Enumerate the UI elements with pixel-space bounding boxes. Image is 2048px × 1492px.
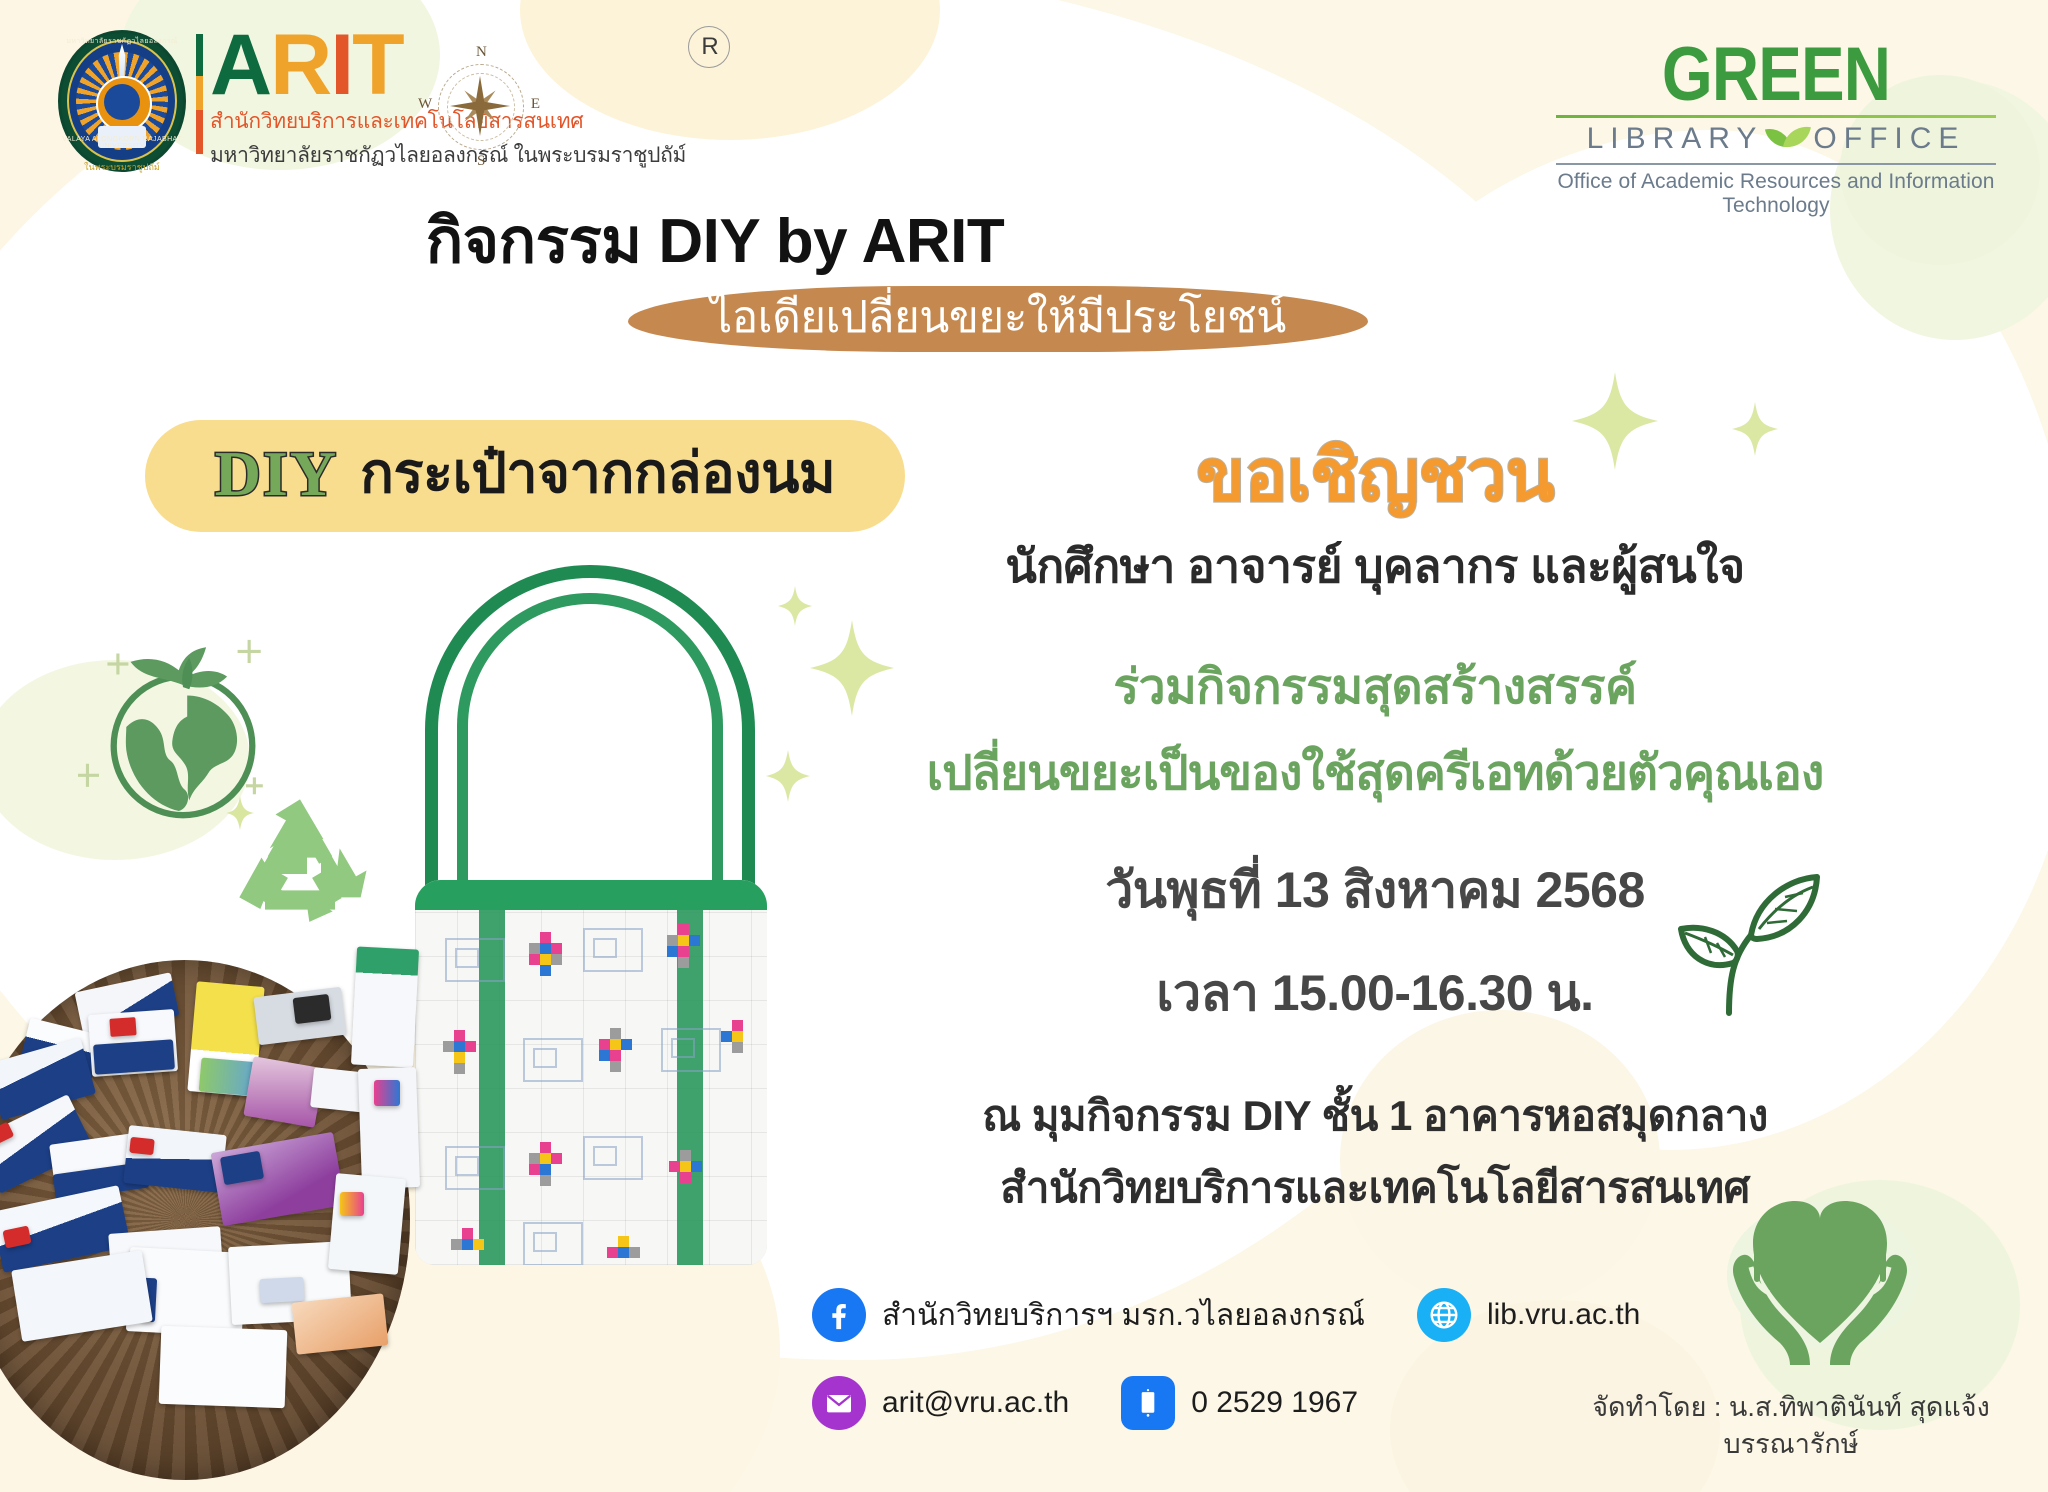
- poster-subtitle-pill: ไอเดียเปลี่ยนขยะให้มีประโยชน์: [628, 286, 1368, 352]
- arit-color-bars-icon: [196, 34, 203, 154]
- contact-block: สำนักวิทยบริการฯ มรก.วไลยอลงกรณ์ lib.vru…: [812, 1288, 1532, 1464]
- leaf-icon: [1765, 124, 1811, 154]
- diy-badge-word: DIY: [215, 437, 338, 511]
- contact-website-label: lib.vru.ac.th: [1487, 1298, 1640, 1332]
- green-library-office-logo: GREEN LIBRARY OFFICE Office of Academic …: [1556, 42, 1996, 218]
- arit-logo: มหาวิทยาลัยราชกัฏวไลยอลงกรณ์ VALAYA ALON…: [58, 30, 686, 172]
- compass-west-label: W: [418, 96, 432, 113]
- recycle-icon: [230, 790, 370, 930]
- hands-holding-heart-icon: [1705, 1155, 1935, 1370]
- contact-email[interactable]: arit@vru.ac.th: [812, 1376, 1069, 1430]
- arit-letter-i: I: [330, 17, 352, 113]
- seal-text-sub: ในพระบรมราชูปถัม์: [58, 160, 186, 174]
- compass-east-label: E: [531, 96, 540, 113]
- arit-letter-a: A: [210, 17, 270, 113]
- plant-sprout-icon: [1655, 845, 1845, 1035]
- phone-icon: [1121, 1376, 1175, 1430]
- credit-block: จัดทำโดย : น.ส.ทิพาตินันท์ สุดแจ้ง บรรณา…: [1576, 1389, 2006, 1462]
- contact-email-label: arit@vru.ac.th: [882, 1386, 1069, 1420]
- invitation-green-line-2: เปลี่ยนขยะเป็นของใช้สุดครีเอทด้วยตัวคุณเ…: [830, 735, 1920, 811]
- globe-icon: [1417, 1288, 1471, 1342]
- arit-letter-t: T: [352, 17, 403, 113]
- office-label: OFFICE: [1813, 122, 1965, 156]
- compass-south-label: S: [477, 153, 485, 170]
- invitation-heading: ขอเชิญชวน: [830, 440, 1920, 512]
- woven-bag-photo: [395, 565, 785, 1265]
- milk-carton-basket-photo: [0, 930, 430, 1492]
- green-logo-divider-2: [1556, 163, 1996, 165]
- poster-canvas: มหาวิทยาลัยราชกัฏวไลยอลงกรณ์ VALAYA ALON…: [0, 0, 2048, 1492]
- contact-facebook-label: สำนักวิทยบริการฯ มรก.วไลยอลงกรณ์: [882, 1292, 1365, 1339]
- contact-website[interactable]: lib.vru.ac.th: [1417, 1288, 1640, 1342]
- bag-handle-inner: [457, 593, 723, 895]
- arit-letter-r: R: [270, 17, 330, 113]
- credit-line-2: บรรณารักษ์: [1576, 1426, 2006, 1462]
- contact-facebook[interactable]: สำนักวิทยบริการฯ มรก.วไลยอลงกรณ์: [812, 1288, 1365, 1342]
- mail-icon: [812, 1376, 866, 1430]
- contact-row-1: สำนักวิทยบริการฯ มรก.วไลยอลงกรณ์ lib.vru…: [812, 1288, 1532, 1342]
- bag-rim: [415, 880, 767, 910]
- compass-rose-icon: N S W E: [420, 46, 540, 166]
- event-venue-line-1: ณ มุมกิจกรรม DIY ชั้น 1 อาคารหอสมุดกลาง: [830, 1083, 1920, 1149]
- contact-phone[interactable]: 0 2529 1967: [1121, 1376, 1358, 1430]
- contact-phone-label: 0 2529 1967: [1191, 1386, 1358, 1420]
- bag-body: [415, 880, 767, 1265]
- contact-row-2: arit@vru.ac.th 0 2529 1967: [812, 1376, 1532, 1430]
- poster-main-title: กิจกรรม DIY by ARIT: [0, 192, 1430, 290]
- facebook-icon: [812, 1288, 866, 1342]
- seal-text-top: มหาวิทยาลัยราชกัฏวไลยอลงกรณ์: [58, 36, 186, 47]
- compass-north-label: N: [476, 44, 487, 61]
- green-logo-subtitle: Office of Academic Resources and Informa…: [1556, 170, 1996, 218]
- diy-topic-badge: DIY กระเป๋าจากกล่องนม: [145, 420, 905, 532]
- bag-weave-pattern: [415, 910, 767, 1265]
- invitation-block: ขอเชิญชวน นักศึกษา อาจารย์ บุคลากร และผู…: [830, 440, 1920, 1221]
- invitation-green-line-1: ร่วมกิจกรรมสุดสร้างสรรค์: [830, 649, 1920, 725]
- seal-text-bottom: VALAYA ALONGKORN RAJABHAT UNIVERSITY: [58, 136, 186, 150]
- green-wordmark: GREEN: [1587, 42, 1965, 109]
- library-label: LIBRARY: [1587, 122, 1764, 156]
- university-seal-icon: มหาวิทยาลัยราชกัฏวไลยอลงกรณ์ VALAYA ALON…: [58, 30, 186, 172]
- invitation-audience: นักศึกษา อาจารย์ บุคลากร และผู้สนใจ: [830, 530, 1920, 603]
- poster-subtitle-text: ไอเดียเปลี่ยนขยะให้มีประโยชน์: [710, 282, 1286, 352]
- green-logo-subline: LIBRARY OFFICE: [1556, 122, 1996, 156]
- credit-line-1: จัดทำโดย : น.ส.ทิพาตินันท์ สุดแจ้ง: [1576, 1389, 2006, 1425]
- diy-badge-topic: กระเป๋าจากกล่องนม: [360, 428, 835, 517]
- registered-trademark-icon: R: [688, 26, 730, 68]
